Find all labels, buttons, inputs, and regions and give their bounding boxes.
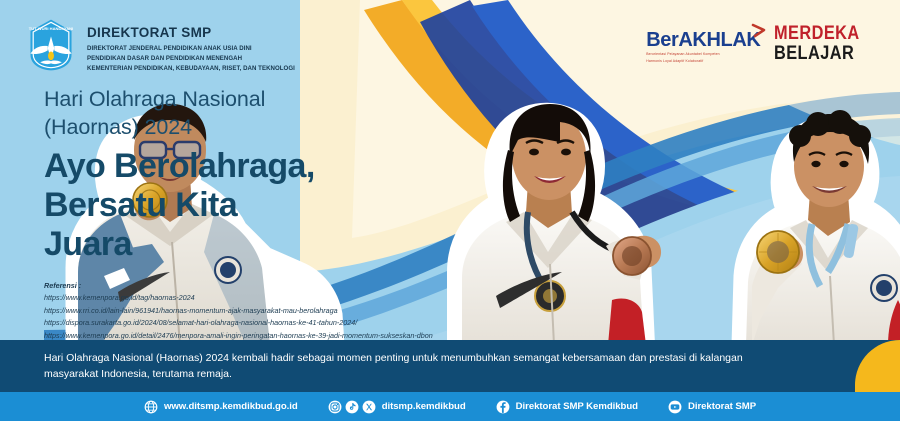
yellow-corner-accent: [855, 340, 900, 392]
berakhlak-suffix: AKHLAK: [678, 29, 760, 51]
globe-icon: [144, 400, 158, 414]
instagram-icon[interactable]: [328, 400, 342, 414]
social-footer: www.ditsmp.kemdikbud.go.id: [0, 392, 900, 421]
org-line-3: KEMENTERIAN PENDIDIKAN, KEBUDAYAAN, RISE…: [87, 64, 295, 74]
footer-facebook-label: Direktorat SMP Kemdikbud: [516, 401, 638, 412]
merdeka-line-2: BELAJAR: [774, 44, 860, 63]
reference-link[interactable]: https://www.rri.co.id/lain-lain/961941/h…: [44, 305, 433, 317]
merdeka-line-1: MERDEKA: [774, 24, 860, 43]
merdeka-belajar-logo: MERDEKA BELAJAR: [774, 24, 874, 63]
haornas-2024-banner: TUT WURI HANDAYANI DIREKTORAT SMP DIREKT…: [0, 0, 900, 421]
reference-link[interactable]: https://dispora.surakarta.go.id/2024/08/…: [44, 317, 433, 329]
berakhlak-tagline-2: Harmonis Loyal Adaptif Kolaboratif: [646, 59, 760, 64]
caption-bar: Hari Olahraga Nasional (Haornas) 2024 ke…: [0, 340, 900, 392]
program-logos: BerAKHLAK Berorientasi Pelayanan Akuntab…: [646, 24, 874, 65]
org-line-1: DIREKTORAT JENDERAL PENDIDIKAN ANAK USIA…: [87, 44, 295, 54]
svg-text:TUT WURI HANDAYANI: TUT WURI HANDAYANI: [29, 26, 73, 31]
tut-wuri-handayani-logo: TUT WURI HANDAYANI: [24, 18, 78, 72]
x-twitter-icon[interactable]: [362, 400, 376, 414]
tiktok-icon[interactable]: [345, 400, 359, 414]
footer-youtube-label: Direktorat SMP: [688, 401, 756, 412]
headline: Ayo Berolahraga, Bersatu Kita Juara: [44, 147, 444, 263]
brand-header: TUT WURI HANDAYANI DIREKTORAT SMP DIREKT…: [24, 18, 295, 73]
reference-link[interactable]: https://www.kemenpora.go.id/tag/haornas-…: [44, 292, 433, 304]
eyebrow-line-1: Hari Olahraga Nasional: [44, 86, 444, 114]
caption-line-1: Hari Olahraga Nasional (Haornas) 2024 ke…: [44, 352, 686, 364]
berakhlak-tagline-1: Berorientasi Pelayanan Akuntabel Kompete…: [646, 52, 760, 57]
footer-social-label: ditsmp.kemdikbud: [382, 401, 466, 412]
headline-line-3: Juara: [44, 225, 444, 264]
main-copy: Hari Olahraga Nasional (Haornas) 2024 Ay…: [44, 86, 444, 263]
berakhlak-wordmark: BerAKHLAK: [646, 30, 760, 50]
footer-website[interactable]: www.ditsmp.kemdikbud.go.id: [144, 400, 298, 414]
headline-line-1: Ayo Berolahraga,: [44, 147, 444, 186]
references-block: Referensi : https://www.kemenpora.go.id/…: [44, 280, 433, 342]
footer-social[interactable]: ditsmp.kemdikbud: [328, 400, 466, 414]
youtube-icon: [668, 400, 682, 414]
berakhlak-logo: BerAKHLAK Berorientasi Pelayanan Akuntab…: [646, 24, 760, 65]
eyebrow-line-2: (Haornas) 2024: [44, 114, 444, 142]
berakhlak-prefix: Ber: [646, 29, 678, 51]
references-label: Referensi :: [44, 280, 433, 292]
footer-facebook[interactable]: Direktorat SMP Kemdikbud: [496, 400, 638, 414]
footer-website-label: www.ditsmp.kemdikbud.go.id: [164, 401, 298, 412]
org-line-2: PENDIDIKAN DASAR DAN PENDIDIKAN MENENGAH: [87, 54, 295, 64]
org-title: DIREKTORAT SMP: [87, 26, 295, 41]
social-icon-group: [328, 400, 376, 414]
headline-line-2: Bersatu Kita: [44, 186, 444, 225]
footer-youtube[interactable]: Direktorat SMP: [668, 400, 756, 414]
caption-text: Hari Olahraga Nasional (Haornas) 2024 ke…: [44, 350, 780, 383]
facebook-icon: [496, 400, 510, 414]
berakhlak-swoosh-icon: [751, 23, 767, 39]
